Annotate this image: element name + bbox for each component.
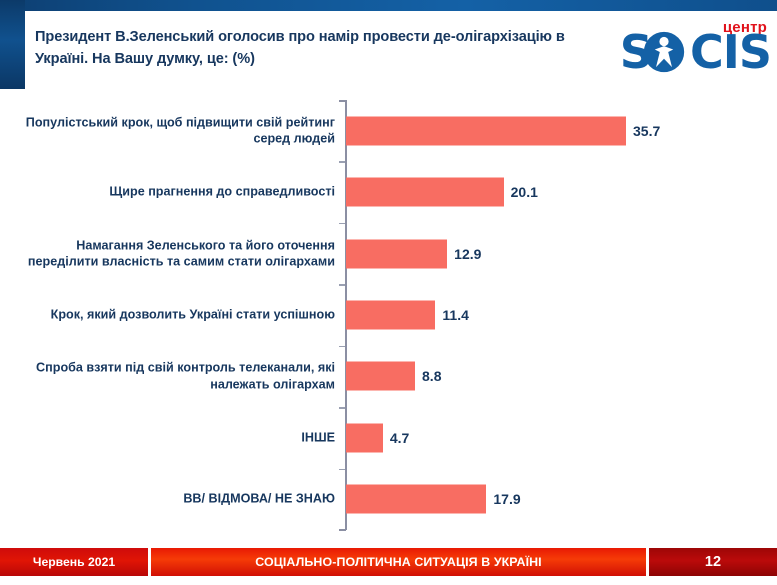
chart-row: ІНШЕ4.7 bbox=[0, 407, 777, 468]
footer-date: Червень 2021 bbox=[0, 548, 148, 576]
bar-value-label: 12.9 bbox=[454, 246, 481, 262]
category-label: ВВ/ ВІДМОВА/ НЕ ЗНАЮ bbox=[20, 491, 335, 508]
bar-chart: Популістський крок, щоб підвищити свій р… bbox=[0, 96, 777, 534]
bar-value-label: 11.4 bbox=[442, 307, 468, 323]
chart-row: Популістський крок, щоб підвищити свій р… bbox=[0, 100, 777, 161]
bar-value-label: 17.9 bbox=[493, 491, 520, 507]
left-blue-band bbox=[0, 0, 25, 89]
slide-footer: Червень 2021 СОЦІАЛЬНО-ПОЛІТИЧНА СИТУАЦІ… bbox=[0, 548, 777, 576]
bar bbox=[346, 423, 383, 452]
chart-row: ВВ/ ВІДМОВА/ НЕ ЗНАЮ17.9 bbox=[0, 469, 777, 530]
page-title: Президент В.Зеленський оголосив про намі… bbox=[35, 27, 610, 71]
category-label: Щире прагнення до справедливості bbox=[20, 184, 335, 201]
footer-title: СОЦІАЛЬНО-ПОЛІТИЧНА СИТУАЦІЯ В УКРАЇНІ bbox=[151, 548, 646, 576]
chart-row: Крок, який дозволить Україні стати успіш… bbox=[0, 284, 777, 345]
chart-row: Намагання Зеленського та його оточення п… bbox=[0, 223, 777, 284]
category-label: Крок, який дозволить Україні стати успіш… bbox=[20, 307, 335, 324]
bar-value-label: 4.7 bbox=[390, 430, 409, 446]
bar bbox=[346, 116, 626, 145]
footer-page-number: 12 bbox=[649, 548, 777, 576]
top-blue-band bbox=[0, 0, 777, 11]
bar-value-label: 35.7 bbox=[633, 123, 660, 139]
category-label: Спроба взяти під свій контроль телеканал… bbox=[20, 360, 335, 393]
bar bbox=[346, 362, 415, 391]
chart-row: Спроба взяти під свій контроль телеканал… bbox=[0, 346, 777, 407]
bar bbox=[346, 178, 504, 207]
bar bbox=[346, 485, 486, 514]
socis-logo: центр SOCIS bbox=[591, 17, 771, 83]
bar bbox=[346, 300, 435, 329]
bar bbox=[346, 239, 447, 268]
category-label: ІНШЕ bbox=[20, 430, 335, 447]
chart-row: Щире прагнення до справедливості20.1 bbox=[0, 161, 777, 222]
bar-value-label: 8.8 bbox=[422, 368, 441, 384]
slide-header: Президент В.Зеленський оголосив про намі… bbox=[25, 11, 777, 89]
category-label: Намагання Зеленського та його оточення п… bbox=[20, 237, 335, 270]
footer-bottom-strip bbox=[0, 576, 777, 585]
person-in-circle-icon bbox=[643, 31, 685, 73]
category-label: Популістський крок, щоб підвищити свій р… bbox=[20, 114, 335, 147]
bar-value-label: 20.1 bbox=[511, 184, 538, 200]
